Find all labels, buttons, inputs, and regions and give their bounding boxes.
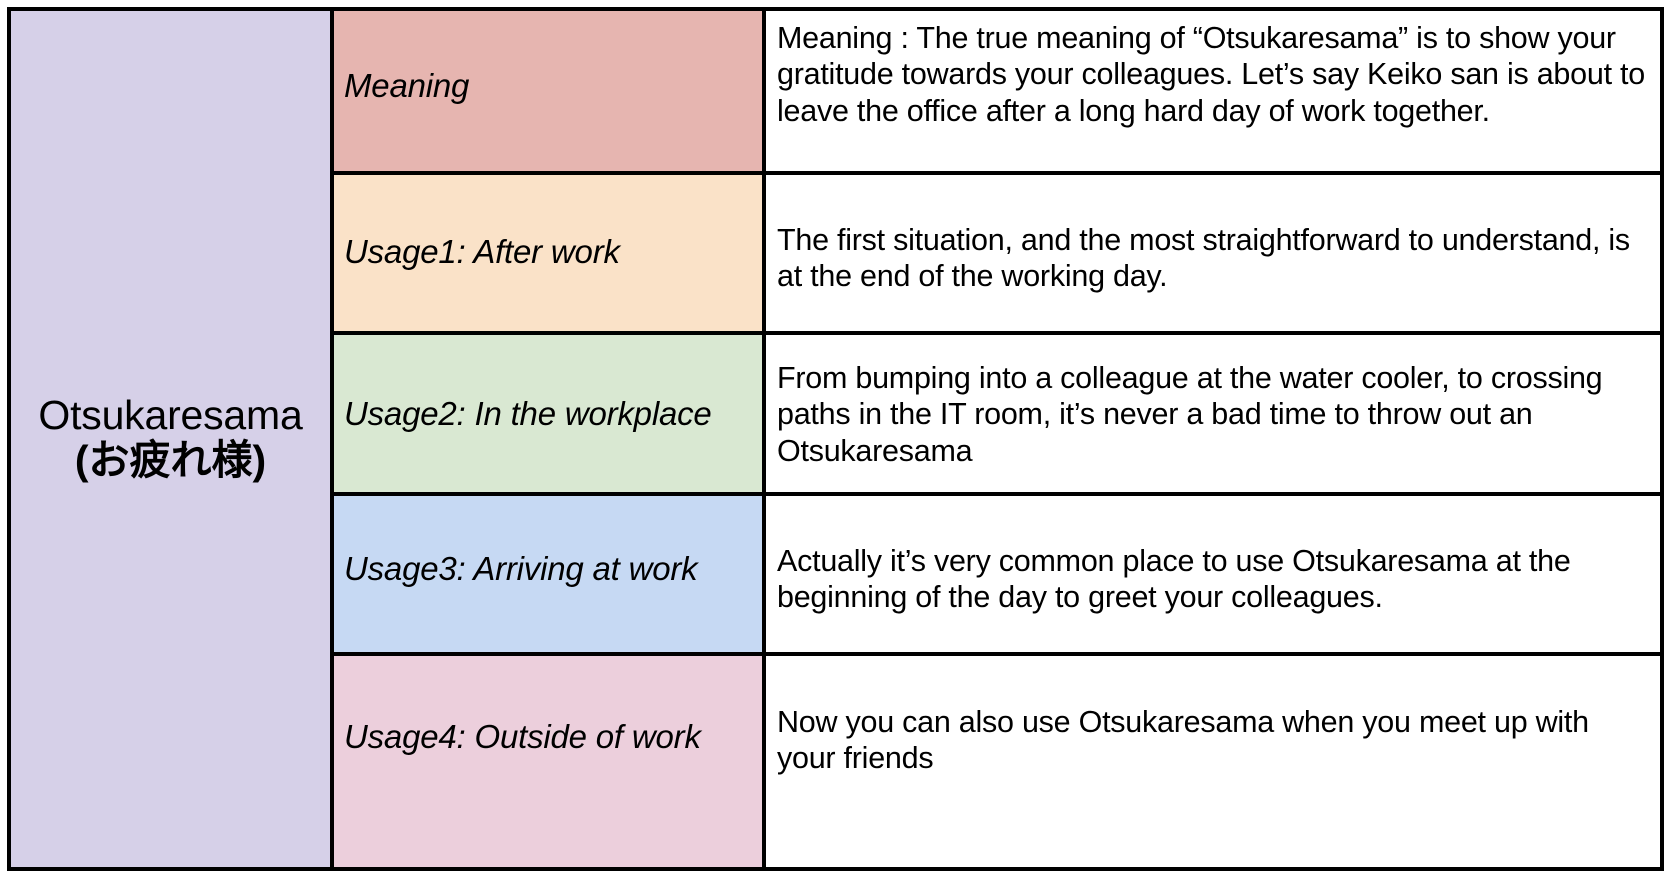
row-description-cell-usage3: Actually it’s very common place to use O… [766,496,1660,652]
row-description-text: The first situation, and the most straig… [777,222,1652,295]
table-row: Usage2: In the workplace From bumping in… [334,335,1660,496]
row-label-text: Usage3: Arriving at work [344,550,697,588]
table-row: Usage1: After work The first situation, … [334,175,1660,335]
row-description-cell-usage2: From bumping into a colleague at the wat… [766,335,1660,492]
row-label-text: Usage4: Outside of work [344,718,701,756]
row-description-cell-meaning: Meaning : The true meaning of “Otsukares… [766,11,1660,171]
row-description-cell-usage1: The first situation, and the most straig… [766,175,1660,331]
row-label-text: Usage2: In the workplace [344,395,712,433]
row-label-cell-usage1: Usage1: After work [334,175,766,331]
otsukaresama-table: Otsukaresama (お疲れ様) Meaning Meaning : Th… [7,7,1664,871]
term-romaji: Otsukaresama [38,394,302,437]
row-label-cell-meaning: Meaning [334,11,766,171]
term-japanese: (お疲れ様) [75,438,266,484]
row-description-text: From bumping into a colleague at the wat… [777,360,1652,469]
row-label-cell-usage3: Usage3: Arriving at work [334,496,766,652]
row-description-text: Meaning : The true meaning of “Otsukares… [777,20,1652,129]
table-row: Usage3: Arriving at work Actually it’s v… [334,496,1660,656]
row-label-text: Meaning [344,67,469,105]
row-label-cell-usage2: Usage2: In the workplace [334,335,766,492]
row-description-text: Actually it’s very common place to use O… [777,543,1652,616]
table-row: Usage4: Outside of work Now you can also… [334,656,1660,867]
row-label-cell-usage4: Usage4: Outside of work [334,656,766,867]
table-row: Meaning Meaning : The true meaning of “O… [334,11,1660,175]
row-description-text: Now you can also use Otsukaresama when y… [777,704,1652,777]
page-canvas: Otsukaresama (お疲れ様) Meaning Meaning : Th… [0,0,1678,884]
term-cell: Otsukaresama (お疲れ様) [11,11,334,867]
row-description-cell-usage4: Now you can also use Otsukaresama when y… [766,656,1660,867]
row-label-text: Usage1: After work [344,233,620,271]
table-rows: Meaning Meaning : The true meaning of “O… [334,11,1660,867]
